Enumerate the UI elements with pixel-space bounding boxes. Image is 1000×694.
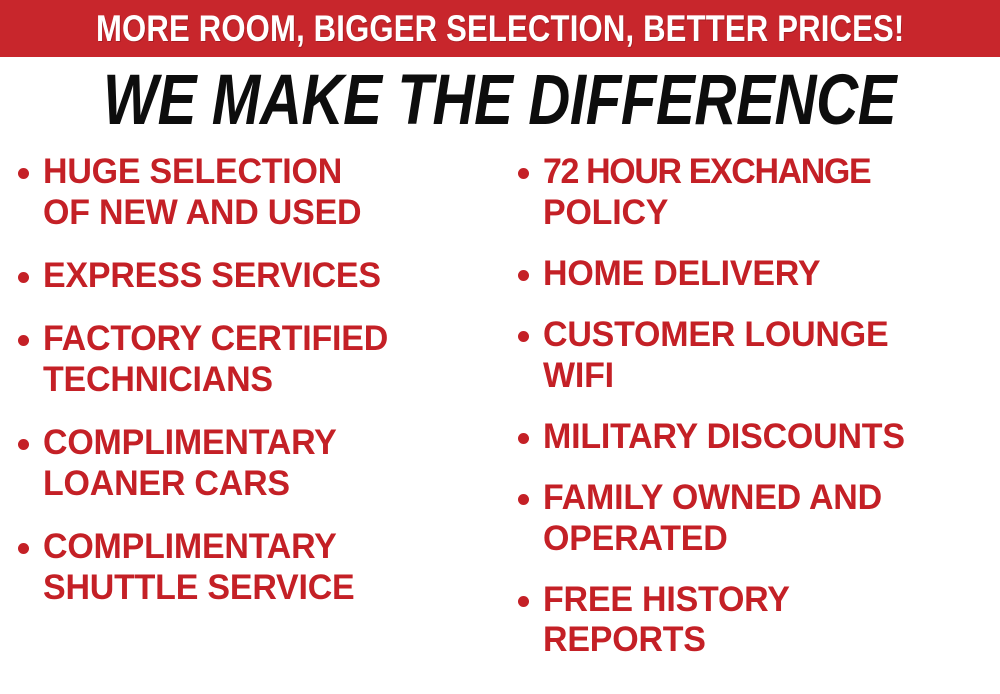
list-item: CUSTOMER LOUNGE WIFI bbox=[518, 315, 1000, 397]
benefit-line-1: HOME DELIVERY bbox=[543, 254, 820, 293]
benefit-line-2: SHUTTLE SERVICE bbox=[43, 568, 355, 609]
benefit-line-2: WIFI bbox=[543, 356, 888, 397]
benefit-line-2: OPERATED bbox=[543, 519, 882, 560]
benefit-line-2: LOANER CARS bbox=[43, 464, 337, 505]
bullet-dot-icon bbox=[518, 494, 529, 505]
benefit-line-1: EXPRESS SERVICES bbox=[43, 256, 381, 295]
list-item: MILITARY DISCOUNTS bbox=[518, 417, 1000, 458]
benefits-column-left: HUGE SELECTION OF NEW AND USED EXPRESS S… bbox=[18, 152, 500, 630]
top-banner: MORE ROOM, BIGGER SELECTION, BETTER PRIC… bbox=[0, 0, 1000, 57]
list-item: FACTORY CERTIFIED TECHNICIANS bbox=[18, 319, 500, 401]
benefits-column-right: 72 HOUR EXCHANGE POLICY HOME DELIVERY CU… bbox=[518, 152, 1000, 681]
benefit-text: FACTORY CERTIFIED TECHNICIANS bbox=[43, 319, 388, 401]
list-item: COMPLIMENTARY LOANER CARS bbox=[18, 423, 500, 505]
bullet-dot-icon bbox=[18, 168, 29, 179]
bullet-dot-icon bbox=[18, 543, 29, 554]
benefit-text: MILITARY DISCOUNTS bbox=[543, 417, 905, 458]
bullet-dot-icon bbox=[518, 331, 529, 342]
benefit-text: FAMILY OWNED AND OPERATED bbox=[543, 478, 882, 560]
dealership-benefits-poster: MORE ROOM, BIGGER SELECTION, BETTER PRIC… bbox=[0, 0, 1000, 694]
benefit-line-1: FAMILY OWNED AND bbox=[543, 478, 882, 517]
benefit-line-1: CUSTOMER LOUNGE bbox=[543, 315, 888, 354]
list-item: EXPRESS SERVICES bbox=[18, 256, 500, 297]
benefit-line-2: OF NEW AND USED bbox=[43, 193, 361, 234]
list-item: HOME DELIVERY bbox=[518, 254, 1000, 295]
benefit-line-1: COMPLIMENTARY bbox=[43, 527, 337, 566]
benefit-line-2: TECHNICIANS bbox=[43, 360, 388, 401]
bullet-dot-icon bbox=[518, 168, 529, 179]
benefit-text: CUSTOMER LOUNGE WIFI bbox=[543, 315, 888, 397]
bullet-dot-icon bbox=[518, 433, 529, 444]
list-item: 72 HOUR EXCHANGE POLICY bbox=[518, 152, 1000, 234]
benefit-text: COMPLIMENTARY SHUTTLE SERVICE bbox=[43, 527, 355, 609]
headline-container: WE MAKE THE DIFFERENCE bbox=[0, 64, 1000, 136]
benefit-line-1: FACTORY CERTIFIED bbox=[43, 319, 388, 358]
bullet-dot-icon bbox=[18, 439, 29, 450]
benefit-text: HUGE SELECTION OF NEW AND USED bbox=[43, 152, 361, 234]
benefit-line-1: MILITARY DISCOUNTS bbox=[543, 417, 905, 456]
bullet-dot-icon bbox=[18, 272, 29, 283]
benefit-line-1: FREE HISTORY bbox=[543, 580, 790, 619]
bullet-dot-icon bbox=[518, 270, 529, 281]
benefit-text: FREE HISTORY REPORTS bbox=[543, 580, 790, 662]
benefits-columns: HUGE SELECTION OF NEW AND USED EXPRESS S… bbox=[0, 152, 1000, 694]
benefit-text: EXPRESS SERVICES bbox=[43, 256, 381, 297]
list-item: FAMILY OWNED AND OPERATED bbox=[518, 478, 1000, 560]
benefit-line-1: COMPLIMENTARY bbox=[43, 423, 337, 462]
benefit-line-2: REPORTS bbox=[543, 620, 790, 661]
bullet-dot-icon bbox=[518, 596, 529, 607]
benefit-text: 72 HOUR EXCHANGE POLICY bbox=[543, 152, 870, 234]
page-title: WE MAKE THE DIFFERENCE bbox=[103, 65, 896, 136]
benefit-line-2: POLICY bbox=[543, 193, 870, 234]
benefit-text: HOME DELIVERY bbox=[543, 254, 820, 295]
benefit-line-1: HUGE SELECTION bbox=[43, 152, 342, 191]
list-item: HUGE SELECTION OF NEW AND USED bbox=[18, 152, 500, 234]
banner-headline: MORE ROOM, BIGGER SELECTION, BETTER PRIC… bbox=[96, 10, 904, 47]
benefit-text: COMPLIMENTARY LOANER CARS bbox=[43, 423, 337, 505]
list-item: FREE HISTORY REPORTS bbox=[518, 580, 1000, 662]
benefit-line-1: 72 HOUR EXCHANGE bbox=[543, 152, 870, 191]
list-item: COMPLIMENTARY SHUTTLE SERVICE bbox=[18, 527, 500, 609]
bullet-dot-icon bbox=[18, 335, 29, 346]
